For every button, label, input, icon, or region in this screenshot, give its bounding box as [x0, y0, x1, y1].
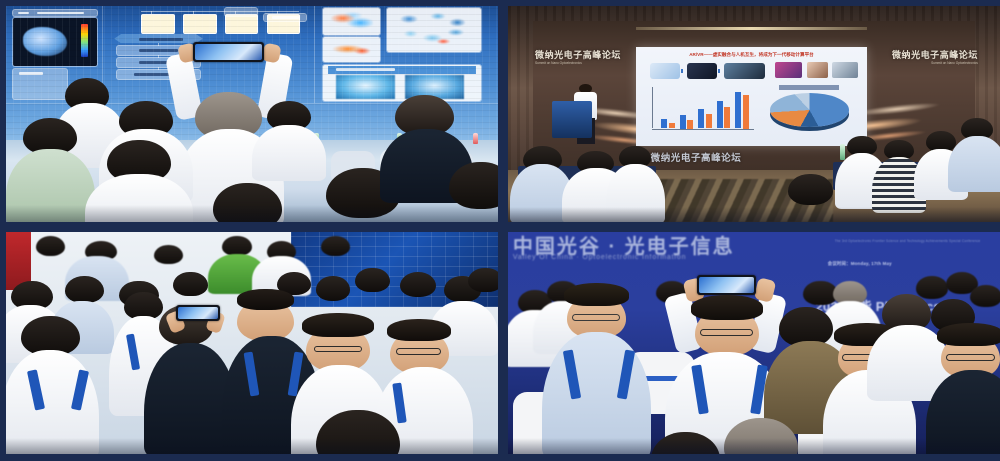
photo-bottom-left	[6, 232, 498, 454]
slide-subtitle: AR/VR——虚实融合与人机互生，将成为下一代移动计算平台	[659, 52, 844, 58]
stage-banner-right: 微纳光电子高峰论坛	[892, 48, 978, 61]
stage-banner-left-sub: Summit on Nano Optoelectronics	[535, 61, 582, 65]
backdrop-date-line: 会议时间：Monday, 17th May	[828, 261, 892, 267]
photo-top-left	[6, 6, 498, 222]
collage-grid: 微纳光电子高峰论坛 Summit on Nano Optoelectronics…	[6, 6, 994, 454]
photo-bottom-right: 中国光谷 · 光电子信息 Valley Of China · Optoelect…	[508, 232, 1000, 454]
stage-banner-right-sub: Summit on Nano Optoelectronics	[931, 61, 978, 65]
projection-screen: AR/VR——虚实融合与人机互生，将成为下一代移动计算平台	[636, 47, 867, 146]
smartphone	[697, 275, 756, 295]
podium	[552, 101, 591, 138]
smartphone	[176, 305, 220, 321]
stage-banner-left: 微纳光电子高峰论坛	[535, 48, 621, 61]
smartphone	[193, 42, 264, 63]
stage-banner-bottom: 微纳光电子高峰论坛	[651, 150, 742, 164]
backdrop-title-en: Valley Of China · Optoelectronic Informa…	[513, 254, 686, 261]
backdrop-conference-line: The 3rd Optoelectronic Frontier Science …	[835, 239, 981, 243]
stage-light-bar	[636, 27, 867, 30]
thermal-map-panel	[13, 18, 97, 66]
photo-top-right: 微纳光电子高峰论坛 Summit on Nano Optoelectronics…	[508, 6, 1000, 222]
photo-collage: 微纳光电子高峰论坛 Summit on Nano Optoelectronics…	[0, 0, 1000, 461]
